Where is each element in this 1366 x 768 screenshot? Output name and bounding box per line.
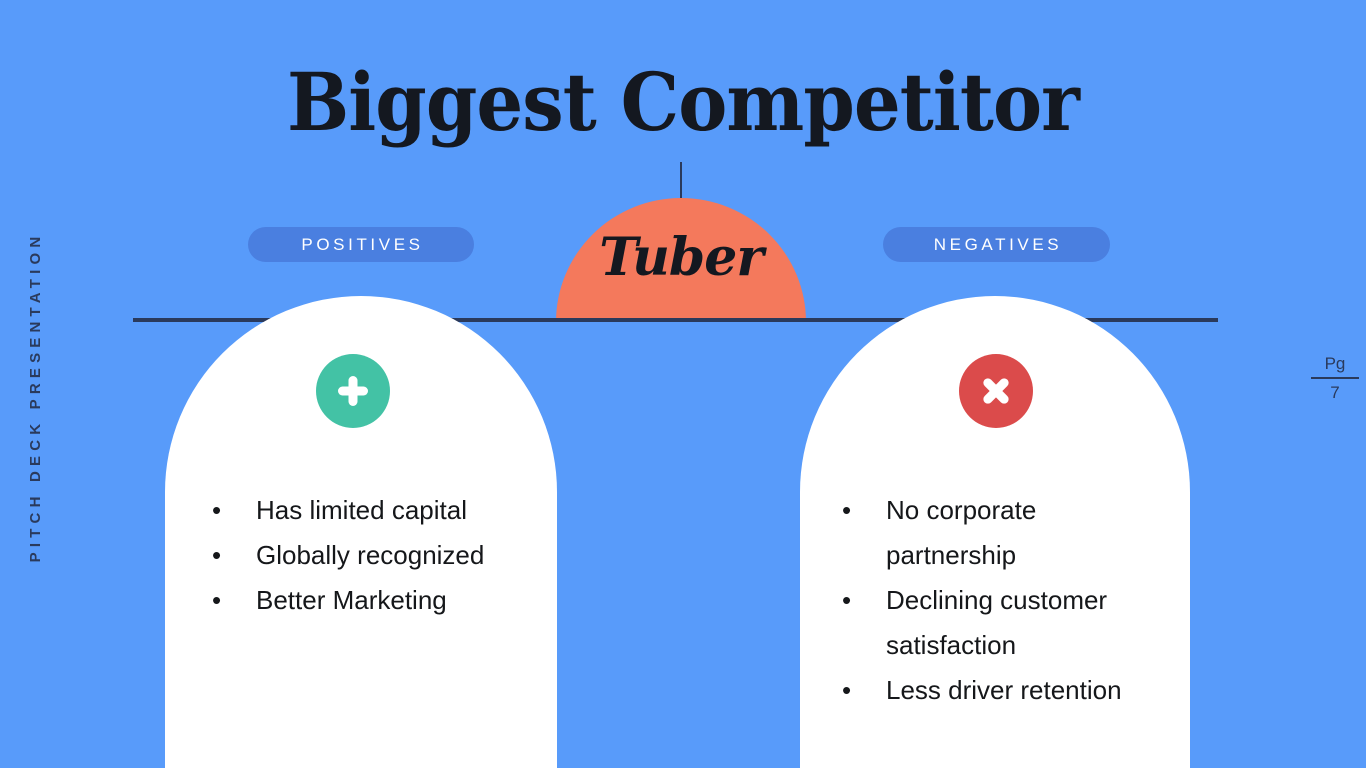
list-item: Has limited capital <box>200 488 530 533</box>
slide-canvas: PITCH DECK PRESENTATION Biggest Competit… <box>0 0 1366 768</box>
bullet-list-positives: Has limited capital Globally recognized … <box>200 488 530 623</box>
list-item: No corporate partnership <box>830 488 1170 578</box>
badge-positives: POSITIVES <box>248 227 474 262</box>
list-item: Declining customer satisfaction <box>830 578 1170 668</box>
page-marker-label: Pg <box>1311 352 1359 376</box>
list-item: Better Marketing <box>200 578 530 623</box>
list-item: Less driver retention <box>830 668 1170 713</box>
brand-name: Tuber <box>556 232 806 284</box>
cross-circle-icon <box>959 354 1033 428</box>
page-title: Biggest Competitor <box>55 62 1312 142</box>
side-label-text: PITCH DECK PRESENTATION <box>27 232 44 563</box>
badge-positives-label: POSITIVES <box>301 235 423 255</box>
badge-negatives: NEGATIVES <box>883 227 1110 262</box>
plus-circle-icon <box>316 354 390 428</box>
page-marker-rule <box>1311 377 1359 379</box>
page-marker: Pg 7 <box>1311 352 1359 405</box>
list-item: Globally recognized <box>200 533 530 578</box>
bullet-list-negatives: No corporate partnership Declining custo… <box>830 488 1170 713</box>
badge-negatives-label: NEGATIVES <box>934 235 1062 255</box>
page-marker-number: 7 <box>1311 381 1359 405</box>
